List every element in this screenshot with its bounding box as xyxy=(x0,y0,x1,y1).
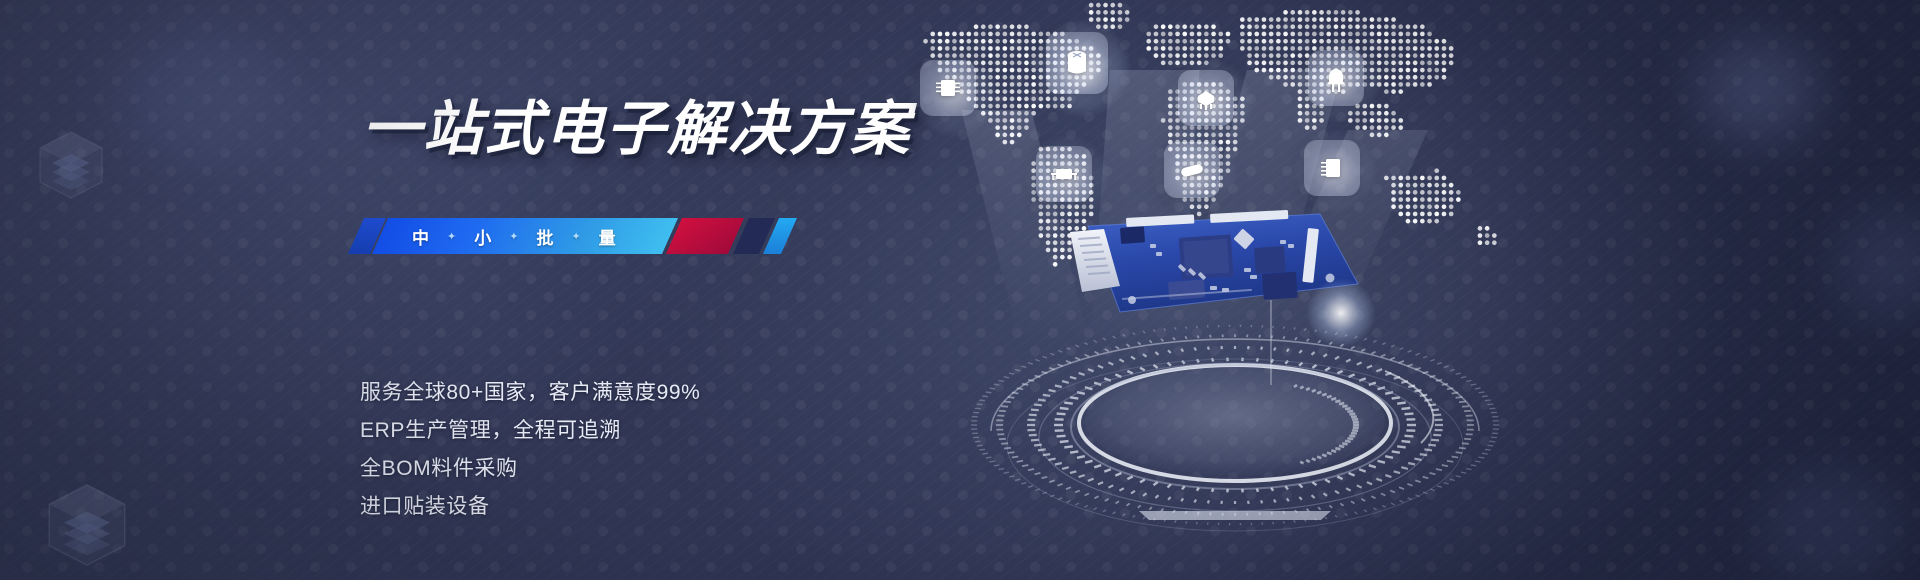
sparkle-icon-3: ✦ xyxy=(571,230,583,243)
sparkle-icon-2: ✦ xyxy=(509,230,521,243)
ribbon-label-group: 中 ✦ 小 ✦ 批 ✦ 量 xyxy=(412,218,619,254)
ribbon-item-4: 量 xyxy=(599,224,619,249)
hero-banner: 一站式电子解决方案 中 ✦ 小 ✦ 批 ✦ 量 服务全球80+国家，客户满意度9… xyxy=(0,0,1920,580)
ribbon-item-1: 中 xyxy=(412,224,432,249)
ribbon-item-3: 批 xyxy=(536,224,556,249)
sparkle-icon-1: ✦ xyxy=(447,230,459,243)
vignette-overlay xyxy=(0,0,1920,580)
ribbon-item-2: 小 xyxy=(474,224,494,249)
